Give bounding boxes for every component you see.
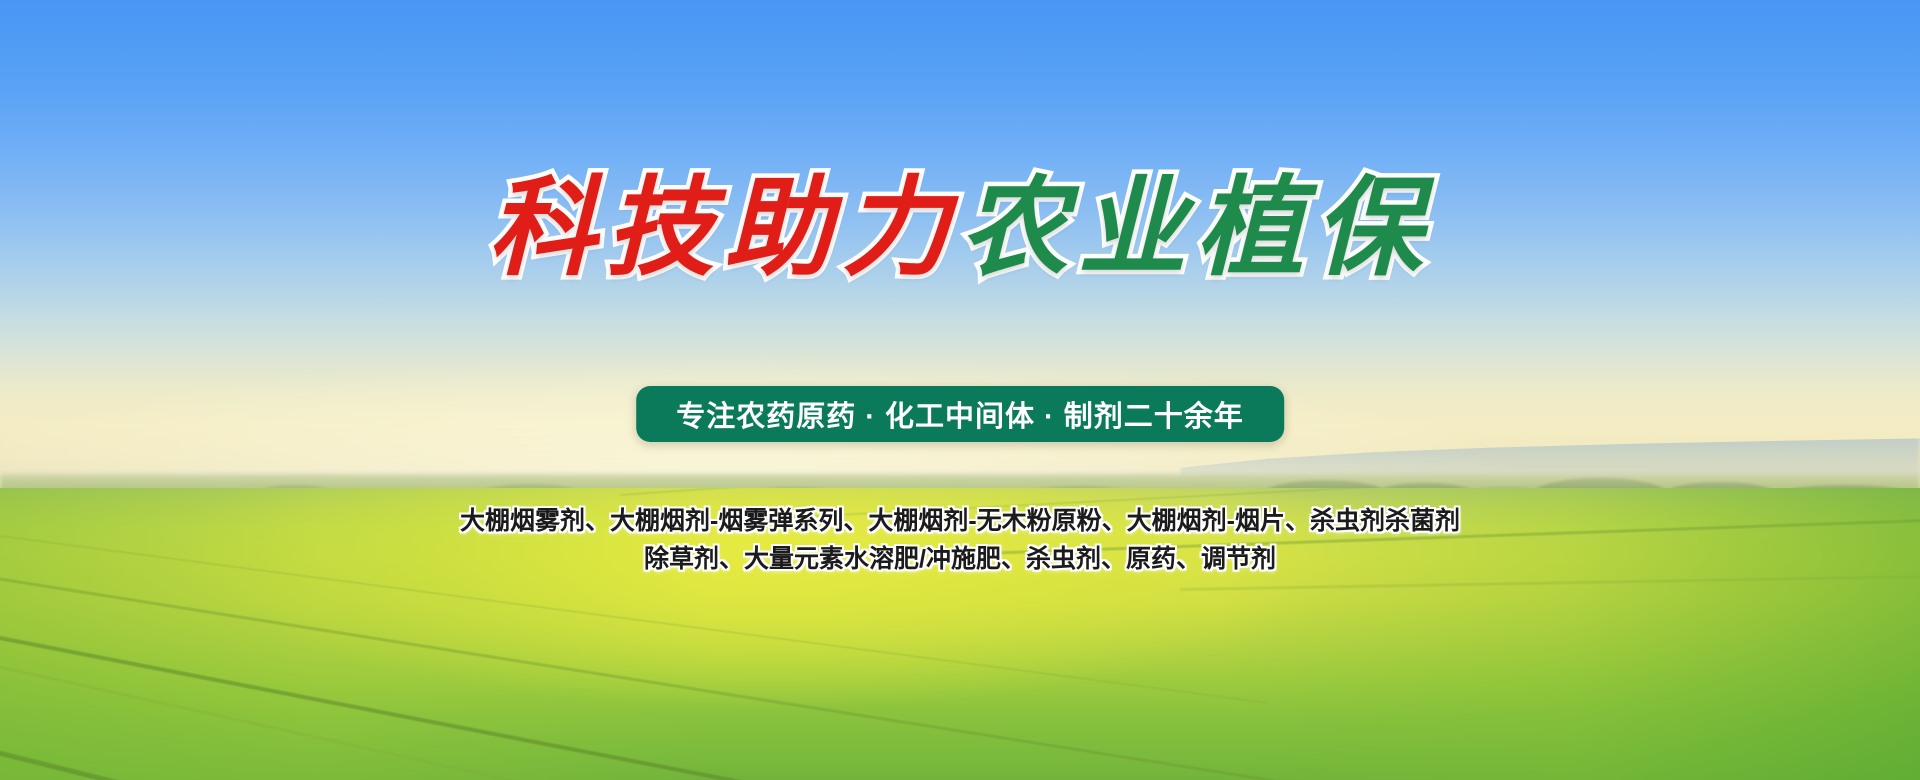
headline-segment-red: 科技助力 bbox=[488, 168, 960, 288]
product-line-2: 除草剂、大量元素水溶肥/冲施肥、杀虫剂、原药、调节剂 bbox=[0, 540, 1920, 578]
tagline-badge: 专注农药原药 · 化工中间体 · 制剂二十余年 bbox=[636, 386, 1284, 442]
headline: 科技助力农业植保 bbox=[0, 168, 1920, 288]
product-line-1: 大棚烟雾剂、大棚烟剂-烟雾弹系列、大棚烟剂-无木粉原粉、大棚烟剂-烟片、杀虫剂杀… bbox=[0, 502, 1920, 540]
product-description: 大棚烟雾剂、大棚烟剂-烟雾弹系列、大棚烟剂-无木粉原粉、大棚烟剂-烟片、杀虫剂杀… bbox=[0, 502, 1920, 578]
hero-banner: 科技助力农业植保 专注农药原药 · 化工中间体 · 制剂二十余年 大棚烟雾剂、大… bbox=[0, 0, 1920, 780]
headline-segment-green: 农业植保 bbox=[960, 168, 1432, 288]
tagline-text: 专注农药原药 · 化工中间体 · 制剂二十余年 bbox=[676, 393, 1244, 435]
